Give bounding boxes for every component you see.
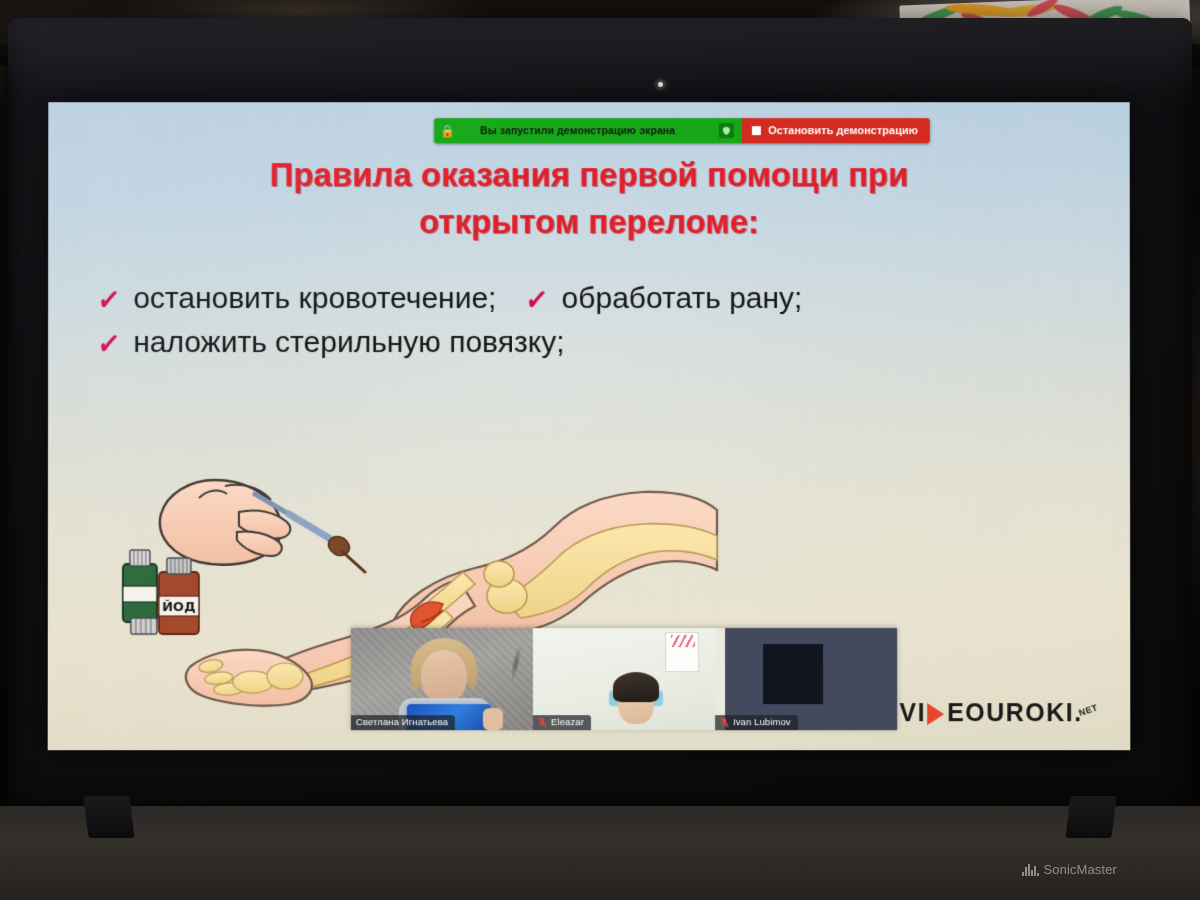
- bezel-highlight: [8, 18, 1192, 98]
- presentation-slide: Правила оказания первой помощи при откры…: [48, 102, 1131, 750]
- webcam-indicator-icon: [658, 82, 663, 87]
- slide-title-line1: Правила оказания первой помощи при: [270, 156, 909, 193]
- participant-name: Светлана Игнатьева: [356, 717, 448, 728]
- avatar-hand: [483, 708, 503, 730]
- laptop-lid: 🔒 Вы запустили демонстрацию экрана Остан…: [8, 18, 1192, 808]
- check-mark-icon: ✓: [96, 285, 121, 318]
- hinge-left: [83, 796, 134, 838]
- screen-share-toolbar[interactable]: 🔒 Вы запустили демонстрацию экрана Остан…: [434, 118, 930, 143]
- bullet-list: ✓ остановить кровотечение; ✓ обработать …: [96, 282, 1100, 369]
- watermark-suffix: EOUROKI.: [947, 699, 1083, 728]
- laptop-screen: 🔒 Вы запустили демонстрацию экрана Остан…: [48, 102, 1131, 750]
- svg-text:ЙОД: ЙОД: [162, 599, 196, 615]
- participant-name-badge: Светлана Игнатьева: [351, 715, 455, 730]
- bullet-row: ✓ наложить стерильную повязку;: [96, 326, 1100, 360]
- laptop-base: [0, 806, 1200, 900]
- audio-waveform-icon: [1022, 864, 1039, 876]
- mic-muted-icon: [538, 717, 547, 728]
- camera-off-placeholder: [763, 644, 823, 704]
- participant-name-badge: Ivan Lubimov: [715, 715, 798, 730]
- shield-icon[interactable]: [719, 123, 734, 138]
- participant-name-badge: Eleazar: [533, 715, 591, 730]
- videouroki-watermark: VIEOUROKI. NET: [899, 699, 1102, 728]
- poster-scribble: [671, 635, 695, 647]
- play-triangle-icon: [927, 702, 946, 726]
- bullet-text: наложить стерильную повязку;: [133, 326, 564, 360]
- check-mark-icon: ✓: [96, 328, 121, 361]
- sonicmaster-label: SonicMaster: [1044, 862, 1117, 877]
- check-mark-icon: ✓: [524, 285, 549, 318]
- participant-name: Eleazar: [551, 717, 584, 728]
- stop-share-label: Остановить демонстрацию: [768, 125, 918, 137]
- bullet-text: обработать рану;: [562, 282, 803, 316]
- hinge-right: [1065, 796, 1116, 838]
- bullet-row: ✓ остановить кровотечение; ✓ обработать …: [96, 282, 1100, 316]
- watermark-text: VIEOUROKI.: [899, 699, 1082, 728]
- slide-title: Правила оказания первой помощи при откры…: [48, 152, 1130, 246]
- stop-share-button[interactable]: Остановить демонстрацию: [742, 118, 930, 143]
- participant-tile-eleazar[interactable]: Eleazar: [533, 628, 715, 730]
- slide-title-line2: открытом переломе:: [138, 199, 1040, 246]
- bullet-text: остановить кровотечение;: [133, 282, 496, 316]
- participant-tile-svetlana[interactable]: Светлана Игнатьева: [351, 628, 533, 730]
- participant-filmstrip[interactable]: Светлана Игнатьева: [351, 628, 897, 730]
- avatar-face: [421, 650, 467, 702]
- participant-tile-ivan[interactable]: Ivan Lubimov: [715, 628, 897, 730]
- stop-square-icon: [752, 126, 761, 135]
- mic-muted-icon: [720, 717, 729, 728]
- lock-icon: 🔒: [441, 124, 454, 137]
- share-status-region: 🔒 Вы запустили демонстрацию экрана: [434, 118, 742, 143]
- room-photo: 🔒 Вы запустили демонстрацию экрана Остан…: [0, 0, 1200, 900]
- avatar-hair: [613, 672, 659, 702]
- share-status-text: Вы запустили демонстрацию экрана: [454, 125, 719, 137]
- sonicmaster-branding: SonicMaster: [1022, 862, 1117, 877]
- participant-name: Ivan Lubimov: [733, 717, 791, 728]
- watermark-prefix: VI: [899, 699, 926, 728]
